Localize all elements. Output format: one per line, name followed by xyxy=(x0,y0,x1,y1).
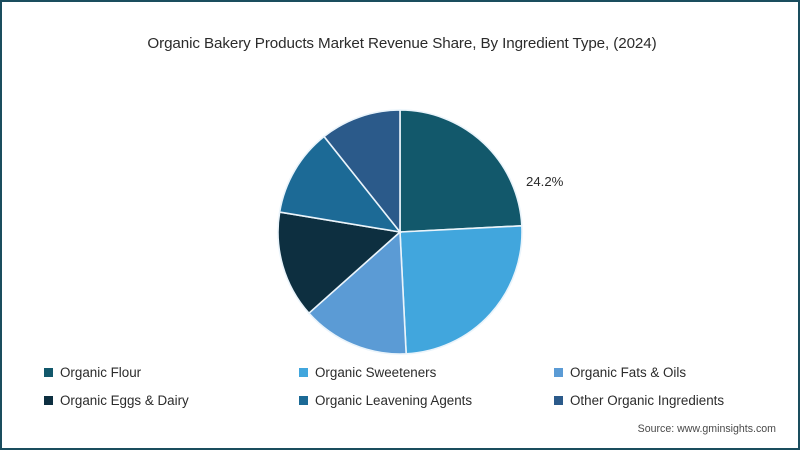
legend-label-organic-leavening-agents: Organic Leavening Agents xyxy=(315,393,472,408)
pie-slice[interactable] xyxy=(400,226,522,354)
legend-label-organic-flour: Organic Flour xyxy=(60,365,141,380)
legend-item-organic-leavening-agents[interactable]: Organic Leavening Agents xyxy=(299,393,554,408)
legend-label-organic-eggs-and-dairy: Organic Eggs & Dairy xyxy=(60,393,189,408)
legend-label-other-organic-ingredients: Other Organic Ingredients xyxy=(570,393,724,408)
legend-swatch-icon-organic-sweeteners xyxy=(299,368,308,377)
pie-chart-svg xyxy=(277,109,523,355)
legend-label-organic-fats-and-oils: Organic Fats & Oils xyxy=(570,365,686,380)
page-title: Organic Bakery Products Market Revenue S… xyxy=(2,35,800,52)
source-attribution: Source: www.gminsights.com xyxy=(638,423,776,435)
legend-swatch-icon-organic-fats-and-oils xyxy=(554,368,563,377)
legend-label-organic-sweeteners: Organic Sweeteners xyxy=(315,365,436,380)
legend-item-organic-eggs-and-dairy[interactable]: Organic Eggs & Dairy xyxy=(44,393,299,408)
legend-item-organic-fats-and-oils[interactable]: Organic Fats & Oils xyxy=(554,365,762,380)
legend-item-organic-flour[interactable]: Organic Flour xyxy=(44,365,299,380)
legend-swatch-icon-organic-eggs-and-dairy xyxy=(44,396,53,405)
legend-item-other-organic-ingredients[interactable]: Other Organic Ingredients xyxy=(554,393,762,408)
legend-swatch-icon-other-organic-ingredients xyxy=(554,396,563,405)
pie-slice[interactable] xyxy=(400,110,522,232)
legend-swatch-icon-organic-leavening-agents xyxy=(299,396,308,405)
legend-swatch-icon-organic-flour xyxy=(44,368,53,377)
pie-data-label-organic-flour: 24.2% xyxy=(526,174,563,189)
chart-legend: Organic Flour Organic Sweeteners Organic… xyxy=(44,358,762,414)
legend-item-organic-sweeteners[interactable]: Organic Sweeteners xyxy=(299,365,554,380)
pie-slice-group xyxy=(278,110,522,354)
chart-frame: Organic Bakery Products Market Revenue S… xyxy=(0,0,800,450)
pie-chart xyxy=(277,109,523,355)
